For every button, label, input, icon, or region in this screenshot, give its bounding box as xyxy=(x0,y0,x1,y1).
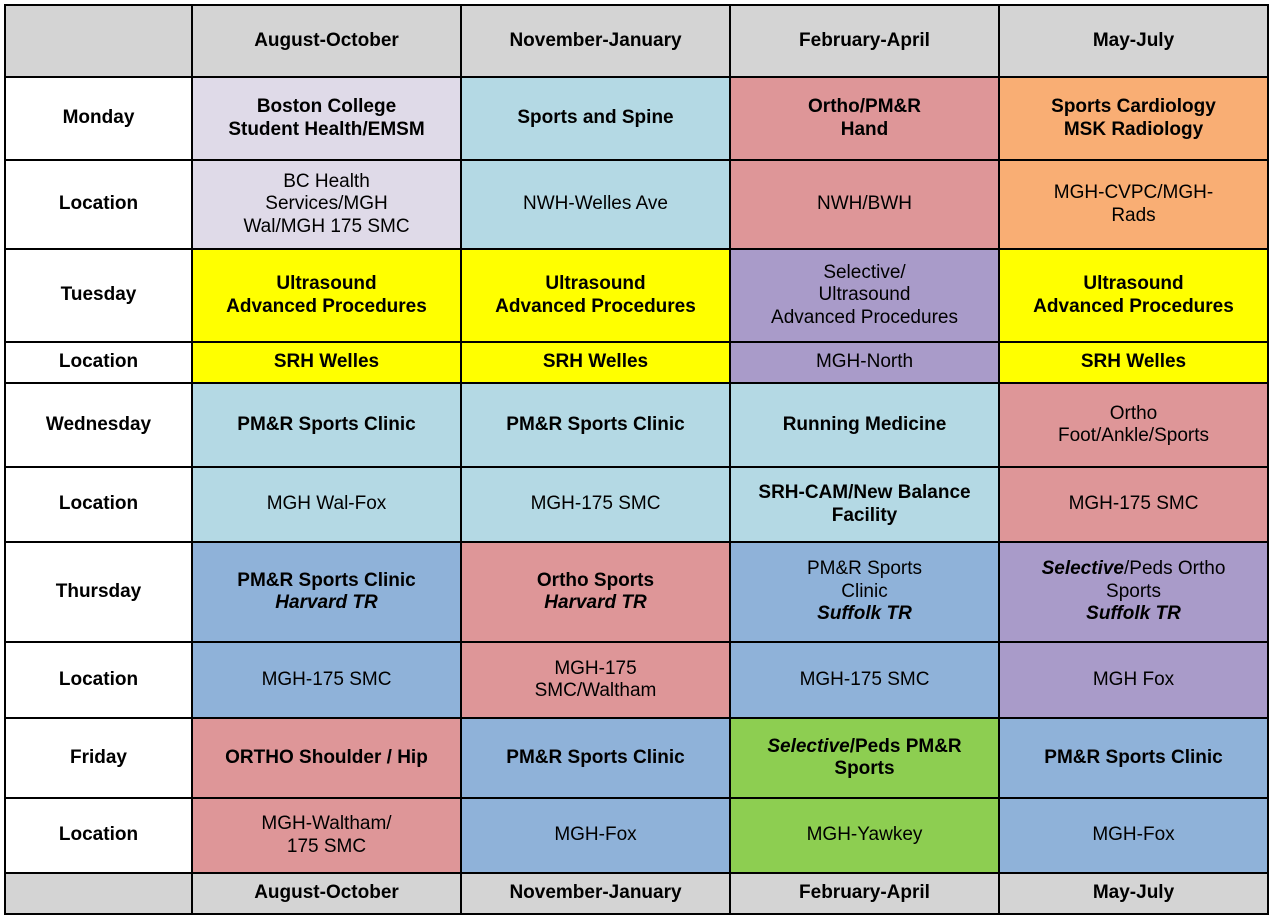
cell-thursday-location-nov-jan: MGH-175 SMC/Waltham xyxy=(461,642,730,718)
cell-line: Selective/ xyxy=(736,262,993,284)
row-label-tuesday: Tuesday xyxy=(5,249,192,342)
table-row-monday-location: Location BC Health Services/MGH Wal/MGH … xyxy=(5,160,1268,249)
cell-line: PM&R Sports xyxy=(736,558,993,580)
cell-line: BC Health xyxy=(198,171,455,193)
table-row-wednesday: Wednesday PM&R Sports Clinic PM&R Sports… xyxy=(5,383,1268,467)
cell-thursday-feb-apr: PM&R Sports Clinic Suffolk TR xyxy=(730,542,999,642)
table-row-thursday-location: Location MGH-175 SMC MGH-175 SMC/Waltham… xyxy=(5,642,1268,718)
cell-tuesday-location-aug-oct: SRH Welles xyxy=(192,342,461,383)
row-label-monday-location: Location xyxy=(5,160,192,249)
cell-line: NWH-Welles Ave xyxy=(467,193,724,215)
column-header-november-january: November-January xyxy=(461,5,730,77)
cell-line: Sports xyxy=(736,758,993,780)
cell-line: Facility xyxy=(736,505,993,527)
cell-tuesday-location-feb-apr: MGH-North xyxy=(730,342,999,383)
cell-thursday-location-aug-oct: MGH-175 SMC xyxy=(192,642,461,718)
cell-line: MGH-Yawkey xyxy=(736,824,993,846)
cell-line: Sports Cardiology xyxy=(1005,96,1262,118)
cell-line: MGH Wal-Fox xyxy=(198,493,455,515)
cell-friday-nov-jan: PM&R Sports Clinic xyxy=(461,718,730,798)
cell-line-rest: /Peds PM&R xyxy=(850,736,962,757)
cell-line: Ortho xyxy=(1005,403,1262,425)
cell-wednesday-location-may-jul: MGH-175 SMC xyxy=(999,467,1268,542)
cell-monday-location-aug-oct: BC Health Services/MGH Wal/MGH 175 SMC xyxy=(192,160,461,249)
cell-line: NWH/BWH xyxy=(736,193,993,215)
cell-line: Running Medicine xyxy=(736,414,993,436)
cell-line: Boston College xyxy=(198,96,455,118)
cell-monday-location-may-jul: MGH-CVPC/MGH- Rads xyxy=(999,160,1268,249)
cell-line-italic: Suffolk TR xyxy=(1005,603,1262,625)
cell-line: Sports and Spine xyxy=(467,107,724,129)
cell-tuesday-may-jul: Ultrasound Advanced Procedures xyxy=(999,249,1268,342)
cell-monday-aug-oct: Boston College Student Health/EMSM xyxy=(192,77,461,160)
cell-wednesday-feb-apr: Running Medicine xyxy=(730,383,999,467)
cell-line: MGH-175 SMC xyxy=(198,669,455,691)
cell-line: MGH-Fox xyxy=(467,824,724,846)
cell-thursday-may-jul: Selective/Peds Ortho Sports Suffolk TR xyxy=(999,542,1268,642)
cell-line-rest: /Peds Ortho xyxy=(1124,558,1225,579)
cell-line: Ultrasound xyxy=(1005,273,1262,295)
cell-line-italic: Suffolk TR xyxy=(736,603,993,625)
cell-tuesday-location-may-jul: SRH Welles xyxy=(999,342,1268,383)
cell-line: ORTHO Shoulder / Hip xyxy=(198,747,455,769)
table-row-tuesday: Tuesday Ultrasound Advanced Procedures U… xyxy=(5,249,1268,342)
cell-wednesday-location-feb-apr: SRH-CAM/New Balance Facility xyxy=(730,467,999,542)
cell-line: Rads xyxy=(1005,205,1262,227)
cell-line: Foot/Ankle/Sports xyxy=(1005,425,1262,447)
cell-line: Student Health/EMSM xyxy=(198,119,455,141)
cell-line-italic: Harvard TR xyxy=(198,592,455,614)
table-row-monday: Monday Boston College Student Health/EMS… xyxy=(5,77,1268,160)
cell-thursday-aug-oct: PM&R Sports Clinic Harvard TR xyxy=(192,542,461,642)
cell-friday-location-aug-oct: MGH-Waltham/ 175 SMC xyxy=(192,798,461,873)
cell-monday-location-feb-apr: NWH/BWH xyxy=(730,160,999,249)
cell-line: PM&R Sports Clinic xyxy=(467,414,724,436)
cell-line: PM&R Sports Clinic xyxy=(198,570,455,592)
cell-italic-prefix: Selective xyxy=(767,736,849,757)
table-row-friday-location: Location MGH-Waltham/ 175 SMC MGH-Fox MG… xyxy=(5,798,1268,873)
cell-line: MGH-CVPC/MGH- xyxy=(1005,182,1262,204)
cell-line: Advanced Procedures xyxy=(1005,296,1262,318)
cell-line: 175 SMC xyxy=(198,836,455,858)
cell-friday-location-nov-jan: MGH-Fox xyxy=(461,798,730,873)
cell-line: MSK Radiology xyxy=(1005,119,1262,141)
cell-monday-location-nov-jan: NWH-Welles Ave xyxy=(461,160,730,249)
cell-line: Ultrasound xyxy=(467,273,724,295)
footer-august-october: August-October xyxy=(192,873,461,914)
cell-tuesday-nov-jan: Ultrasound Advanced Procedures xyxy=(461,249,730,342)
cell-monday-may-jul: Sports Cardiology MSK Radiology xyxy=(999,77,1268,160)
cell-line: PM&R Sports Clinic xyxy=(467,747,724,769)
cell-monday-nov-jan: Sports and Spine xyxy=(461,77,730,160)
cell-thursday-location-may-jul: MGH Fox xyxy=(999,642,1268,718)
footer-may-july: May-July xyxy=(999,873,1268,914)
table-row-thursday: Thursday PM&R Sports Clinic Harvard TR O… xyxy=(5,542,1268,642)
cell-line: PM&R Sports Clinic xyxy=(1005,747,1262,769)
cell-line: Advanced Procedures xyxy=(198,296,455,318)
cell-line: MGH-175 xyxy=(467,658,724,680)
cell-line: Hand xyxy=(736,119,993,141)
table-row-tuesday-location: Location SRH Welles SRH Welles MGH-North… xyxy=(5,342,1268,383)
cell-wednesday-may-jul: Ortho Foot/Ankle/Sports xyxy=(999,383,1268,467)
cell-wednesday-aug-oct: PM&R Sports Clinic xyxy=(192,383,461,467)
cell-line: SMC/Waltham xyxy=(467,680,724,702)
cell-friday-location-may-jul: MGH-Fox xyxy=(999,798,1268,873)
cell-line: MGH-175 SMC xyxy=(467,493,724,515)
table-row-wednesday-location: Location MGH Wal-Fox MGH-175 SMC SRH-CAM… xyxy=(5,467,1268,542)
cell-friday-location-feb-apr: MGH-Yawkey xyxy=(730,798,999,873)
cell-line: Ortho Sports xyxy=(467,570,724,592)
cell-line: Ultrasound xyxy=(198,273,455,295)
cell-line: MGH-175 SMC xyxy=(736,669,993,691)
cell-monday-feb-apr: Ortho/PM&R Hand xyxy=(730,77,999,160)
cell-line-italic: Harvard TR xyxy=(467,592,724,614)
cell-line: PM&R Sports Clinic xyxy=(198,414,455,436)
row-label-thursday-location: Location xyxy=(5,642,192,718)
cell-line: Services/MGH xyxy=(198,193,455,215)
rotation-schedule-table: August-October November-January February… xyxy=(4,4,1269,915)
row-label-thursday: Thursday xyxy=(5,542,192,642)
cell-thursday-location-feb-apr: MGH-175 SMC xyxy=(730,642,999,718)
cell-line: SRH-CAM/New Balance xyxy=(736,482,993,504)
row-label-wednesday-location: Location xyxy=(5,467,192,542)
cell-wednesday-nov-jan: PM&R Sports Clinic xyxy=(461,383,730,467)
cell-line: Ortho/PM&R xyxy=(736,96,993,118)
cell-line: MGH-175 SMC xyxy=(1005,493,1262,515)
cell-line: Advanced Procedures xyxy=(736,307,993,329)
cell-friday-may-jul: PM&R Sports Clinic xyxy=(999,718,1268,798)
cell-wednesday-location-aug-oct: MGH Wal-Fox xyxy=(192,467,461,542)
cell-line-mixed: Selective/Peds Ortho xyxy=(1005,558,1262,580)
row-label-friday-location: Location xyxy=(5,798,192,873)
cell-line-mixed: Selective/Peds PM&R xyxy=(736,736,993,758)
table-header-row: August-October November-January February… xyxy=(5,5,1268,77)
cell-wednesday-location-nov-jan: MGH-175 SMC xyxy=(461,467,730,542)
cell-line: Wal/MGH 175 SMC xyxy=(198,216,455,238)
table-footer-row: August-October November-January February… xyxy=(5,873,1268,914)
cell-line: Ultrasound xyxy=(736,284,993,306)
cell-tuesday-feb-apr: Selective/ Ultrasound Advanced Procedure… xyxy=(730,249,999,342)
column-header-february-april: February-April xyxy=(730,5,999,77)
row-label-wednesday: Wednesday xyxy=(5,383,192,467)
cell-thursday-nov-jan: Ortho Sports Harvard TR xyxy=(461,542,730,642)
row-label-friday: Friday xyxy=(5,718,192,798)
cell-line: MGH-Waltham/ xyxy=(198,813,455,835)
row-label-tuesday-location: Location xyxy=(5,342,192,383)
cell-tuesday-location-nov-jan: SRH Welles xyxy=(461,342,730,383)
cell-line: Sports xyxy=(1005,581,1262,603)
column-header-august-october: August-October xyxy=(192,5,461,77)
footer-february-april: February-April xyxy=(730,873,999,914)
cell-tuesday-aug-oct: Ultrasound Advanced Procedures xyxy=(192,249,461,342)
cell-friday-feb-apr: Selective/Peds PM&R Sports xyxy=(730,718,999,798)
header-corner-cell xyxy=(5,5,192,77)
cell-line: Advanced Procedures xyxy=(467,296,724,318)
footer-corner-cell xyxy=(5,873,192,914)
cell-line: MGH-Fox xyxy=(1005,824,1262,846)
row-label-monday: Monday xyxy=(5,77,192,160)
footer-november-january: November-January xyxy=(461,873,730,914)
cell-line: Clinic xyxy=(736,581,993,603)
table-row-friday: Friday ORTHO Shoulder / Hip PM&R Sports … xyxy=(5,718,1268,798)
cell-friday-aug-oct: ORTHO Shoulder / Hip xyxy=(192,718,461,798)
column-header-may-july: May-July xyxy=(999,5,1268,77)
cell-italic-prefix: Selective xyxy=(1042,558,1124,579)
cell-line: MGH Fox xyxy=(1005,669,1262,691)
